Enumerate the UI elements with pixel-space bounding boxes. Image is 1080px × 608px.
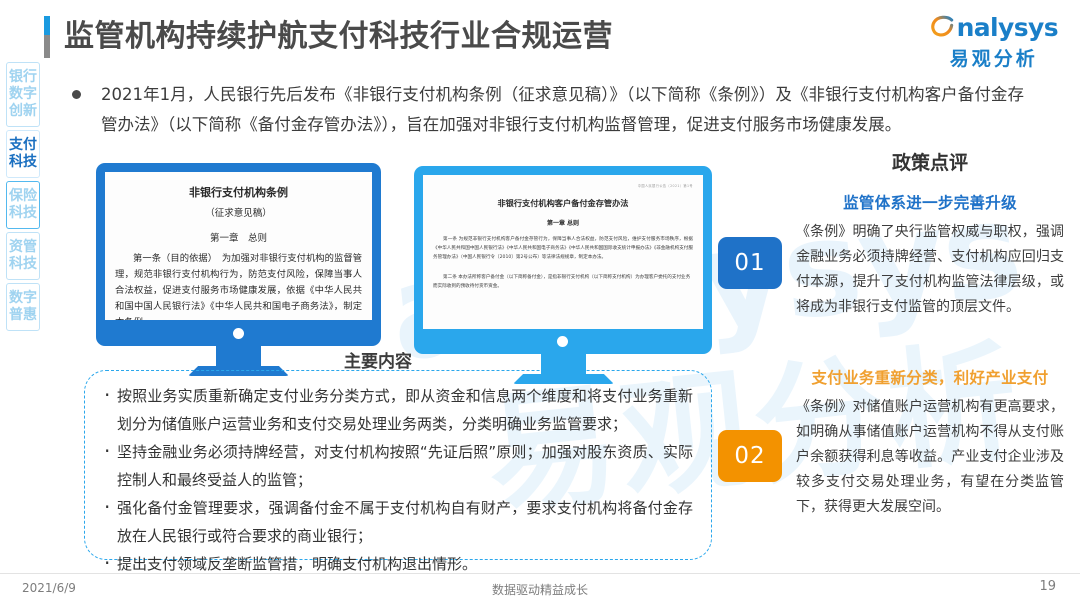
sidebar-item-label: 银行数字创新 [9,69,37,120]
list-item: 按照业务实质重新确定支付业务分类方式，即从资金和信息两个维度和将支付业务重新划分… [103,382,693,438]
main-content-box: 按照业务实质重新确定支付业务分类方式，即从资金和信息两个维度和将支付业务重新划分… [84,370,712,560]
commentary-body: 《条例》明确了央行监管权威与职权，强调金融业务必须持牌经营、支付机构应回归支付本… [796,220,1064,320]
footer-slogan: 数据驱动精益成长 [0,581,1080,598]
monitor-bezel: 中国人民银行公告〔2021〕第1号 非银行支付机构客户备付金存管办法 第一章 总… [414,166,712,354]
commentary-section-1: 监管体系进一步完善升级 《条例》明确了央行监管权威与职权，强调金融业务必须持牌经… [796,191,1064,320]
main-content-list: 按照业务实质重新确定支付业务分类方式，即从资金和信息两个维度和将支付业务重新划分… [103,382,693,578]
badge-01: 01 [718,237,782,289]
document-preview: 中国人民银行公告〔2021〕第1号 非银行支付机构客户备付金存管办法 第一章 总… [423,175,703,291]
monitor-bezel: 非银行支付机构条例 （征求意见稿） 第一章 总则 第一条（目的依据） 为加强对非… [96,163,381,346]
doc-subtitle: （征求意见稿） [115,205,362,219]
sidebar-item-insurance-tech[interactable]: 保险科技 [6,181,40,229]
page-title: 监管机构持续护航支付科技行业合规运营 [64,22,613,52]
commentary-subtitle: 支付业务重新分类，利好产业支付 [796,366,1064,388]
monitor-custody-rules: 中国人民银行公告〔2021〕第1号 非银行支付机构客户备付金存管办法 第一章 总… [414,166,712,354]
monitor-screen: 中国人民银行公告〔2021〕第1号 非银行支付机构客户备付金存管办法 第一章 总… [423,175,703,329]
lead-paragraph: 2021年1月，人民银行先后发布《非银行支付机构条例（征求意见稿）》（以下简称《… [72,80,1024,140]
page-title-group: 监管机构持续护航支付科技行业合规运营 [44,16,613,58]
sidebar-item-digital-inclusive[interactable]: 数字普惠 [6,283,40,331]
brand-logo: nalysys 易观分析 [930,12,1058,71]
sidebar-item-label: 数字普惠 [9,290,37,324]
sidebar[interactable]: 银行数字创新 支付科技 保险科技 资管科技 数字普惠 [6,62,46,331]
commentary-column: 政策点评 监管体系进一步完善升级 《条例》明确了央行监管权威与职权，强调金融业务… [796,148,1064,520]
title-accent-bar [44,16,50,58]
monitor-indicator-dot-icon [233,328,244,339]
sidebar-item-label: 资管科技 [9,239,37,273]
commentary-section-2: 支付业务重新分类，利好产业支付 《条例》对储值账户运营机构有更高要求，如明确从事… [796,366,1064,520]
sidebar-item-asset-tech[interactable]: 资管科技 [6,232,40,280]
doc-body-2: 第二条 本办法所称客户备付金（以下简称备付金），是指非银行支付机构（以下简称支付… [433,273,693,291]
doc-title: 非银行支付机构客户备付金存管办法 [433,197,693,209]
bullet-dot-icon [72,90,81,99]
document-preview: 非银行支付机构条例 （征求意见稿） 第一章 总则 第一条（目的依据） 为加强对非… [105,172,372,320]
doc-stamp: 中国人民银行公告〔2021〕第1号 [433,183,693,188]
list-item: 强化备付金管理要求，强调备付金不属于支付机构自有财产，要求支付机构将备付金存放在… [103,494,693,550]
lead-text: 2021年1月，人民银行先后发布《非银行支付机构条例（征求意见稿）》（以下简称《… [101,80,1024,140]
monitor-indicator-dot-icon [557,336,568,347]
monitor-screen: 非银行支付机构条例 （征求意见稿） 第一章 总则 第一条（目的依据） 为加强对非… [105,172,372,320]
sidebar-item-label: 支付科技 [9,137,37,171]
sidebar-item-bank-digital[interactable]: 银行数字创新 [6,62,40,127]
doc-chapter: 第一章 总则 [433,218,693,227]
list-item: 坚持金融业务必须持牌经营，对支付机构按照“先证后照”原则；加强对股东资质、实际控… [103,438,693,494]
doc-body: 第一条 为规范非银行支付机构客户备付金存管行为，保障当事人合法权益，防范支付风险… [433,235,693,262]
footer: 2021/6/9 数据驱动精益成长 19 [0,577,1080,605]
logo-row: nalysys [930,12,1058,42]
logo-wordmark-cn: 易观分析 [930,44,1058,71]
analysys-swoosh-icon [930,14,956,40]
list-item: 提出支付领域反垄断监管措，明确支付机构退出情形。 [103,550,693,578]
sidebar-item-payment-tech[interactable]: 支付科技 [6,130,40,178]
main-content-title: 主要内容 [344,347,412,372]
monitor-regulation-draft: 非银行支付机构条例 （征求意见稿） 第一章 总则 第一条（目的依据） 为加强对非… [96,163,381,346]
sidebar-item-label: 保险科技 [9,188,37,222]
footer-page-number: 19 [1039,579,1056,594]
slide: analysys 易观分析 监管机构持续护航支付科技行业合规运营 nalysys… [0,0,1080,608]
commentary-subtitle: 监管体系进一步完善升级 [796,191,1064,213]
commentary-heading: 政策点评 [796,148,1064,175]
commentary-body: 《条例》对储值账户运营机构有更高要求，如明确从事储值账户运营机构不得从支付账户余… [796,395,1064,520]
logo-wordmark: nalysys [957,15,1058,40]
doc-title: 非银行支付机构条例 [115,184,362,200]
doc-chapter: 第一章 总则 [115,230,362,244]
badge-02: 02 [718,430,782,482]
doc-body: 第一条（目的依据） 为加强对非银行支付机构的监督管理，规范非银行支付机构行为，防… [115,251,362,320]
